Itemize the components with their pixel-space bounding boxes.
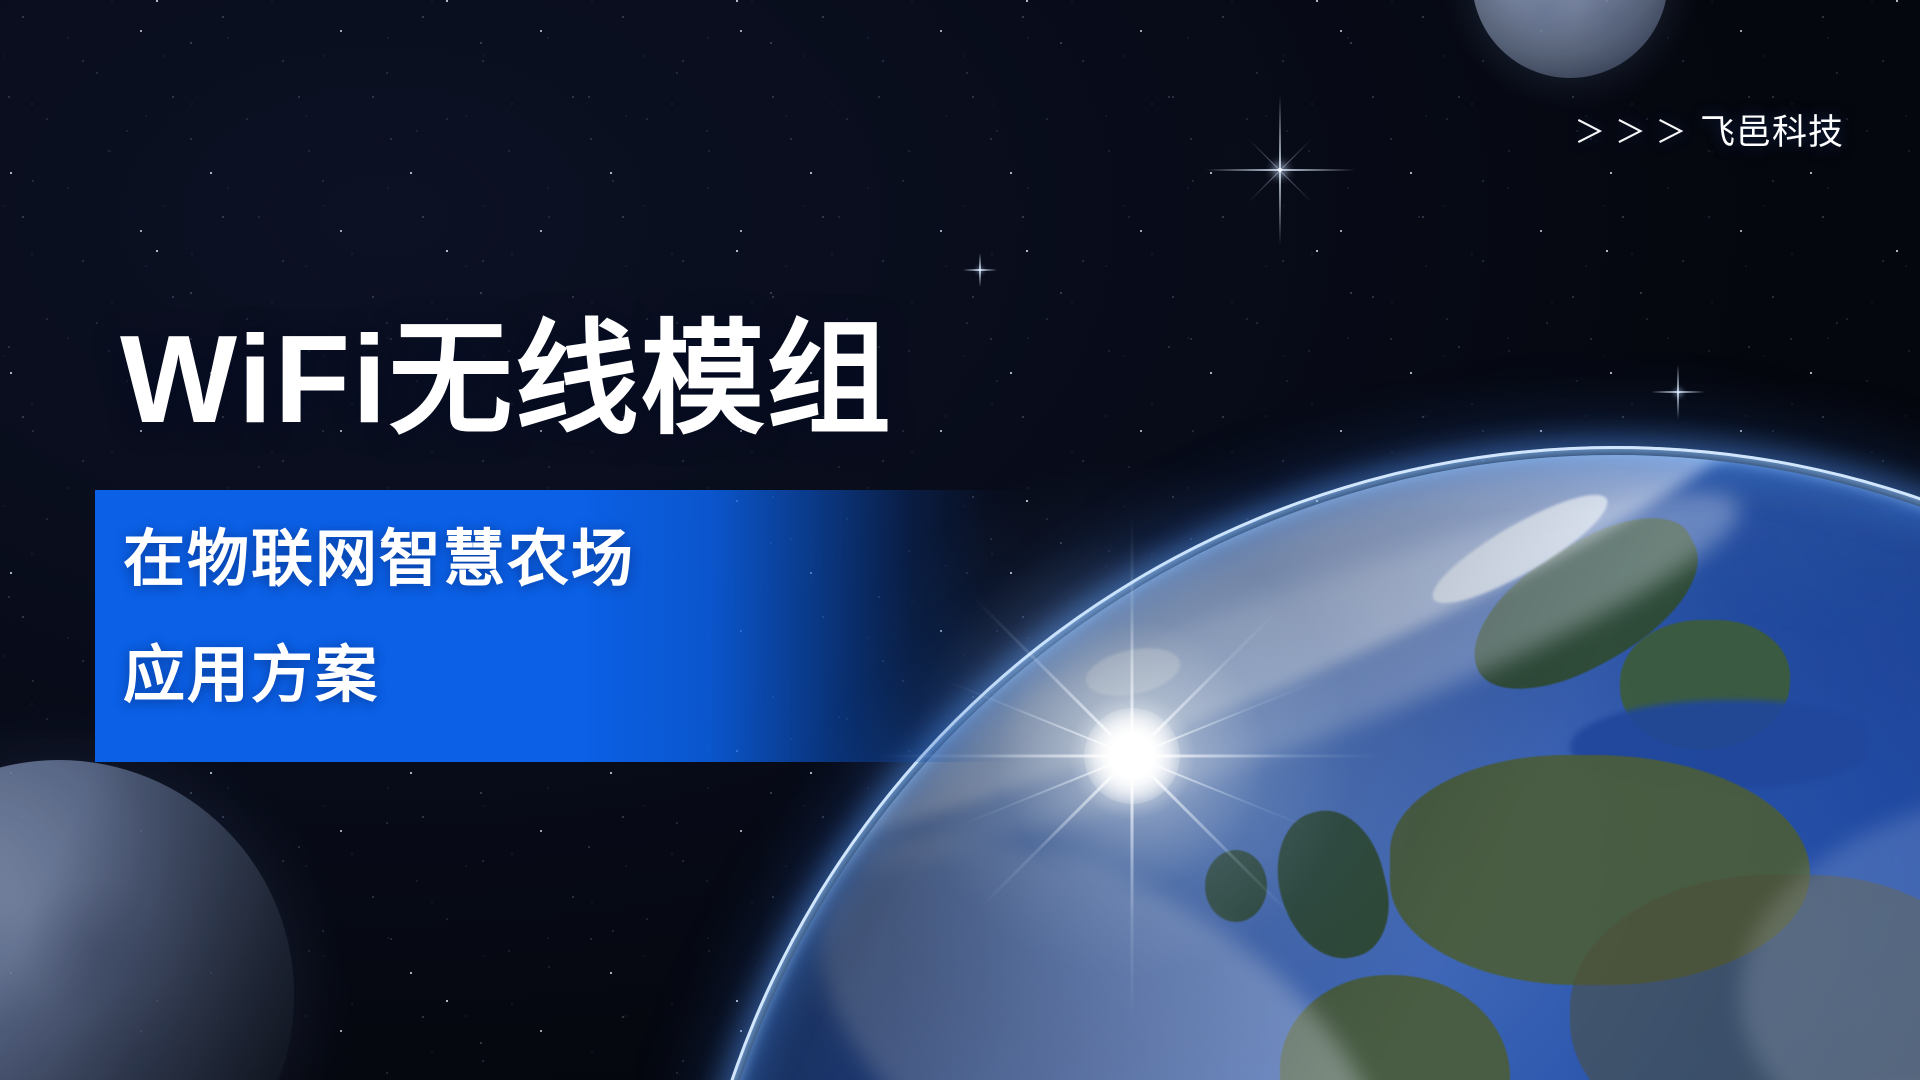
subtitle-panel: 在物联网智慧农场 应用方案 bbox=[95, 490, 1025, 762]
slide-canvas: ＞ ＞ ＞ 飞邑科技 WiFi无线模组 在物联网智慧农场 应用方案 bbox=[0, 0, 1920, 1080]
brand-name: 飞邑科技 bbox=[1700, 104, 1844, 155]
subtitle-line-2: 应用方案 bbox=[123, 645, 379, 707]
page-title: WiFi无线模组 bbox=[120, 318, 893, 442]
brand-logo[interactable]: ＞ ＞ ＞ 飞邑科技 bbox=[1574, 104, 1844, 155]
subtitle-line-1: 在物联网智慧农场 bbox=[123, 529, 635, 591]
flare-core bbox=[1084, 708, 1180, 804]
chevron-right-icon: ＞ ＞ ＞ bbox=[1574, 107, 1687, 152]
